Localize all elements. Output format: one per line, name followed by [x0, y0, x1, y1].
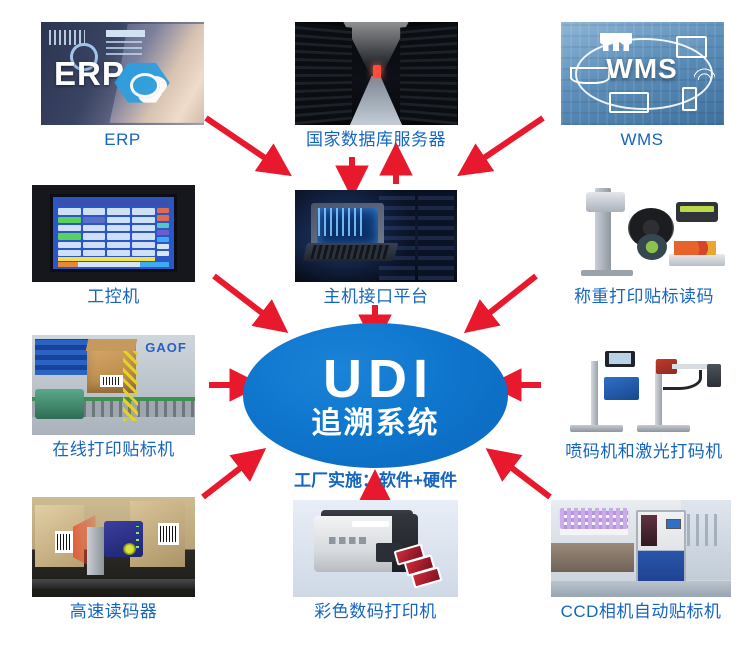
node-industrial-pc[interactable]: 工控机	[30, 185, 197, 307]
node-color-printer[interactable]: 彩色数码打印机	[293, 500, 458, 622]
node-erp-caption: ERP	[104, 131, 140, 150]
node-host-platform[interactable]: 主机接口平台	[295, 190, 457, 307]
node-hs-reader[interactable]: 高速读码器	[30, 497, 197, 622]
inline-labeler-thumbnail: GAOF	[32, 335, 195, 435]
node-weigh-label-caption: 称重打印贴标读码	[574, 288, 714, 307]
erp-thumbnail: ERP	[41, 22, 204, 125]
hs-reader-thumbnail	[32, 497, 195, 597]
arrow-erp-to-host	[206, 118, 277, 166]
host-platform-thumbnail	[295, 190, 457, 282]
arrow-industrial-pc-to-udi	[214, 276, 274, 322]
node-industrial-pc-caption: 工控机	[87, 288, 140, 307]
node-ccd-labeler[interactable]: CCD相机自动贴标机	[551, 500, 731, 622]
node-weigh-label[interactable]: 称重打印贴标读码	[556, 182, 732, 307]
node-coder[interactable]: 喷码机和激光打码机	[556, 332, 732, 462]
node-wms-caption: WMS	[620, 131, 663, 150]
node-hs-reader-caption: 高速读码器	[70, 603, 158, 622]
udi-title: UDI	[317, 352, 434, 406]
node-national-db[interactable]: 国家数据库服务器	[286, 22, 466, 150]
arrow-wms-to-host	[472, 118, 543, 166]
node-host-platform-caption: 主机接口平台	[324, 288, 429, 307]
erp-logo-text: ERP	[54, 55, 125, 93]
node-coder-caption: 喷码机和激光打码机	[565, 443, 723, 462]
weigh-label-thumbnail	[556, 182, 732, 282]
conveyor-brand-text: GAOF	[145, 340, 187, 355]
node-national-db-caption: 国家数据库服务器	[306, 131, 446, 150]
node-inline-labeler-caption: 在线打印贴标机	[52, 441, 175, 460]
diagram-canvas: ERP ERP 国家数据库服务器 WMS WMS	[0, 0, 750, 650]
wms-thumbnail: WMS	[561, 22, 724, 125]
node-ccd-labeler-caption: CCD相机自动贴标机	[561, 603, 722, 622]
node-erp[interactable]: ERP ERP	[30, 22, 215, 150]
udi-center-node[interactable]: UDI 追溯系统	[243, 323, 508, 468]
udi-subtitle: 追溯系统	[312, 408, 440, 440]
industrial-pc-thumbnail	[32, 185, 195, 282]
national-db-thumbnail	[295, 22, 458, 125]
arrow-weigh-label-to-udi	[478, 276, 536, 322]
node-wms[interactable]: WMS WMS	[552, 22, 732, 150]
coder-thumbnail	[556, 332, 732, 437]
udi-footer-caption: 工厂实施：软件+硬件	[243, 466, 508, 491]
color-printer-thumbnail	[293, 500, 458, 597]
node-color-printer-caption: 彩色数码打印机	[314, 603, 437, 622]
wms-logo-text: WMS	[606, 53, 677, 85]
ccd-labeler-thumbnail	[551, 500, 731, 597]
node-inline-labeler[interactable]: GAOF 在线打印贴标机	[30, 335, 197, 460]
